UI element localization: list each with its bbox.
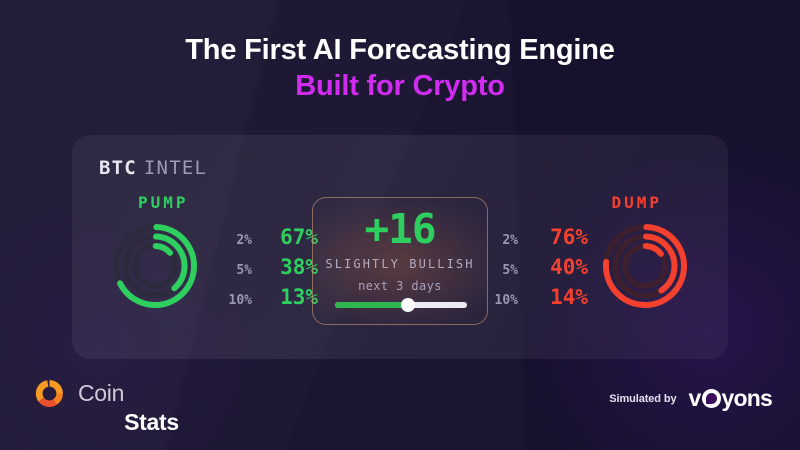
dump-panel: DUMP 2% 76% 5% 40%	[480, 193, 710, 343]
slider-knob[interactable]	[401, 298, 415, 312]
dump-probability-1: 40%	[522, 255, 588, 279]
donut-chart-icon	[33, 377, 66, 410]
btc-intel-card: BTCINTEL PUMP 2% 67%	[72, 135, 728, 359]
pump-threshold-2: 10%	[212, 293, 252, 308]
headline-line-1: The First AI Forecasting Engine	[0, 33, 800, 68]
forecast-verdict-panel: +16 SLIGHTLY BULLISH next 3 days	[312, 197, 488, 325]
voyons-logo-post: yons	[722, 385, 772, 412]
forecast-verdict-label: SLIGHTLY BULLISH	[313, 257, 487, 271]
pump-probability-0: 67%	[252, 225, 318, 249]
dump-stats-list: 2% 76% 5% 40% 10% 14%	[470, 225, 588, 315]
headline: The First AI Forecasting Engine Built fo…	[0, 33, 800, 106]
brand-name-part-2: Stats	[124, 409, 242, 436]
dump-threshold-2: 10%	[482, 293, 522, 308]
voyons-logo-pre: v	[689, 385, 701, 412]
forecast-sentiment-slider[interactable]	[335, 302, 467, 308]
voyons-logo: v yons	[689, 385, 772, 412]
brand-name-part-1: Coin	[78, 380, 124, 406]
slider-fill	[335, 302, 408, 308]
forecast-score: +16	[313, 205, 487, 253]
headline-line-2: Built for Crypto	[0, 68, 800, 106]
pump-label: PUMP	[138, 193, 189, 212]
table-row: 5% 40%	[470, 255, 588, 285]
dump-threshold-0: 2%	[482, 233, 522, 248]
table-row: 2% 76%	[470, 225, 588, 255]
card-title: BTCINTEL	[99, 157, 207, 179]
coinstats-wordmark: CoinStats	[78, 380, 124, 407]
attribution: Simulated by v yons	[609, 385, 772, 412]
card-title-asset: BTC	[99, 157, 137, 179]
pump-panel: PUMP 2% 67% 5% 38%	[90, 193, 320, 343]
pump-gauge	[112, 223, 198, 309]
attribution-prefix: Simulated by	[609, 393, 676, 405]
dump-gauge	[602, 223, 688, 309]
dump-threshold-1: 5%	[482, 263, 522, 278]
pump-threshold-1: 5%	[212, 263, 252, 278]
pump-probability-1: 38%	[252, 255, 318, 279]
forecast-horizon-label: next 3 days	[313, 279, 487, 293]
coinstats-brand: CoinStats	[33, 377, 124, 410]
pump-probability-2: 13%	[252, 285, 318, 309]
dump-probability-0: 76%	[522, 225, 588, 249]
dump-probability-2: 14%	[522, 285, 588, 309]
table-row: 10% 14%	[470, 285, 588, 315]
card-title-suffix: INTEL	[144, 157, 207, 179]
dump-label: DUMP	[611, 193, 662, 212]
voyons-eye-icon	[702, 389, 721, 408]
pump-threshold-0: 2%	[212, 233, 252, 248]
